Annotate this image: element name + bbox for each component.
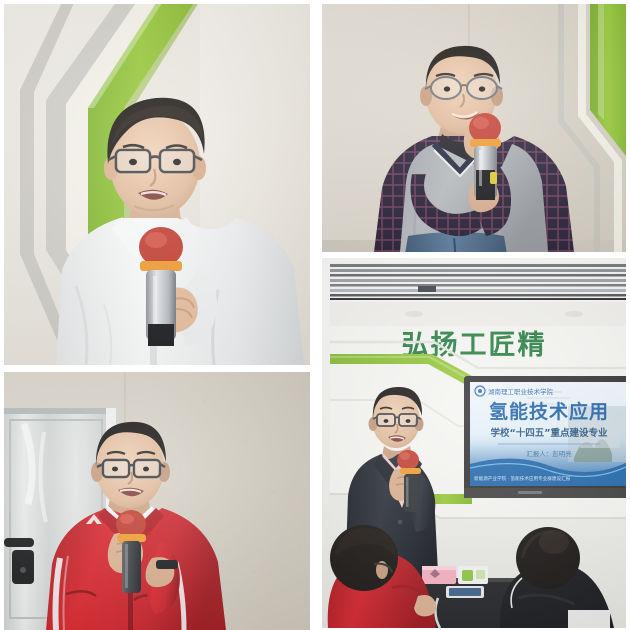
wall-chevron-green-edge [590,4,598,118]
wall-chevron-green-highlight [598,4,604,120]
chair-back [568,610,610,628]
panel-bottom-right-photo: 弘扬工匠精 [322,258,626,628]
ceiling-baffles [330,262,626,300]
display-brand [518,491,542,494]
panel-top-left-photo [4,4,310,365]
photo-collage: Speaker in white shirt holding red micro… [0,0,630,630]
eye-left [384,419,389,423]
projection-display[interactable]: 湖南理工职业技术学院 氢能技术应用 学校“十四五”重点建设专业 汇报人：彭明亮 … [464,376,626,498]
pink-notebook[interactable] [422,566,456,584]
slide-presenter: 汇报人：彭明亮 [526,449,572,458]
panel-bottom-left[interactable]: Speaker in red track jacket holding micr… [4,372,310,630]
svg-text:湖南理工职业技术学院: 湖南理工职业技术学院 [488,387,554,396]
eye-left [112,467,118,472]
eye-left [129,159,137,165]
display-bottom-bar [464,488,626,498]
slide-subtitle: 学校“十四五”重点建设专业 [491,427,608,439]
mic-label [490,172,497,184]
panel-top-right-photo [322,4,626,252]
panel-top-right[interactable]: Speaker in grey sweater vest over plaid … [322,4,626,252]
eye-right [406,419,411,423]
suit-button [398,520,403,525]
eye-right [479,86,485,91]
downlight-2 [565,311,583,317]
panel-bottom-left-photo [4,372,310,630]
presentation-clicker [156,560,178,569]
panel-bottom-right[interactable]: 弘扬工匠精 [322,258,626,628]
slide-footer: 新能源产业学院 · 氢能技术应用专业群建设汇报 [474,475,571,482]
panel-top-left[interactable]: Speaker in white shirt holding red micro… [4,4,310,365]
slide-title: 氢能技术应用 [489,400,609,423]
eye-right [173,159,181,165]
eye-right [143,467,149,472]
eye-left [444,86,450,91]
downlight-1 [405,311,423,317]
tablet-on-desk[interactable] [446,586,484,598]
tissue-box[interactable] [458,566,488,584]
ceiling-vent [418,286,436,292]
